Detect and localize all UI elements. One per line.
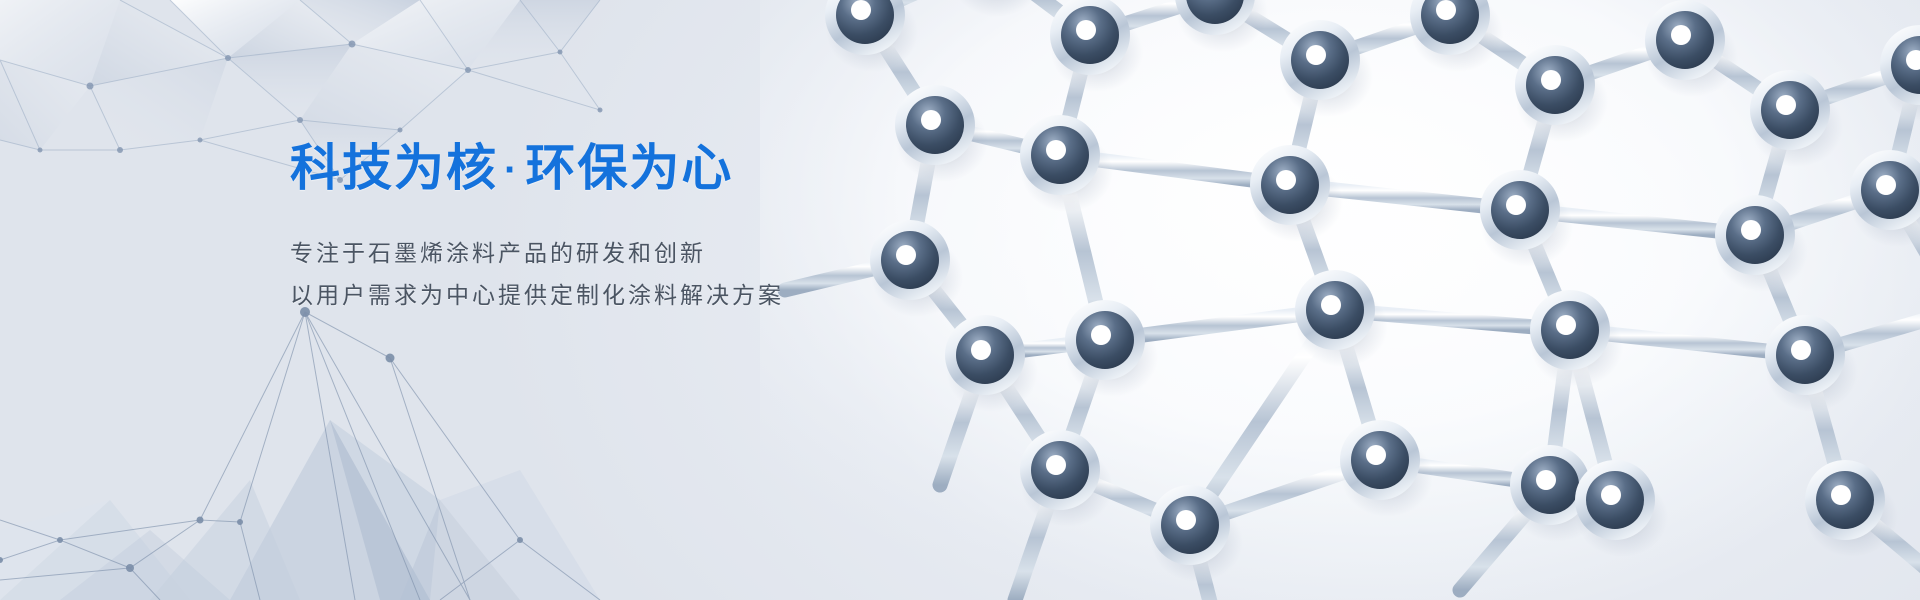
headline-part-1: 科技为核 <box>290 140 498 196</box>
banner-text-block: 科技为核·环保为心 专注于石墨烯涂料产品的研发和创新 以用户需求为中心提供定制化… <box>290 140 930 317</box>
subtitle-line-2: 以用户需求为中心提供定制化涂料解决方案 <box>290 274 930 317</box>
subtitle-line-1: 专注于石墨烯涂料产品的研发和创新 <box>290 232 930 275</box>
network-lines-bottom <box>0 312 600 600</box>
atom-node <box>825 0 1920 565</box>
network-nodes-bottom <box>0 307 523 572</box>
graphene-molecule-graphic <box>760 0 1920 600</box>
banner-headline: 科技为核·环保为心 <box>290 140 930 198</box>
molecule-bonds <box>785 0 1920 600</box>
headline-separator: · <box>504 148 519 192</box>
atom-shadows <box>826 0 1920 582</box>
banner-subtitle: 专注于石墨烯涂料产品的研发和创新 以用户需求为中心提供定制化涂料解决方案 <box>290 232 930 317</box>
hero-banner: 科技为核·环保为心 专注于石墨烯涂料产品的研发和创新 以用户需求为中心提供定制化… <box>0 0 1920 600</box>
molecule-atoms <box>825 0 1920 582</box>
headline-part-2: 环保为心 <box>525 140 733 196</box>
polygon-cluster-bottom <box>0 420 600 600</box>
